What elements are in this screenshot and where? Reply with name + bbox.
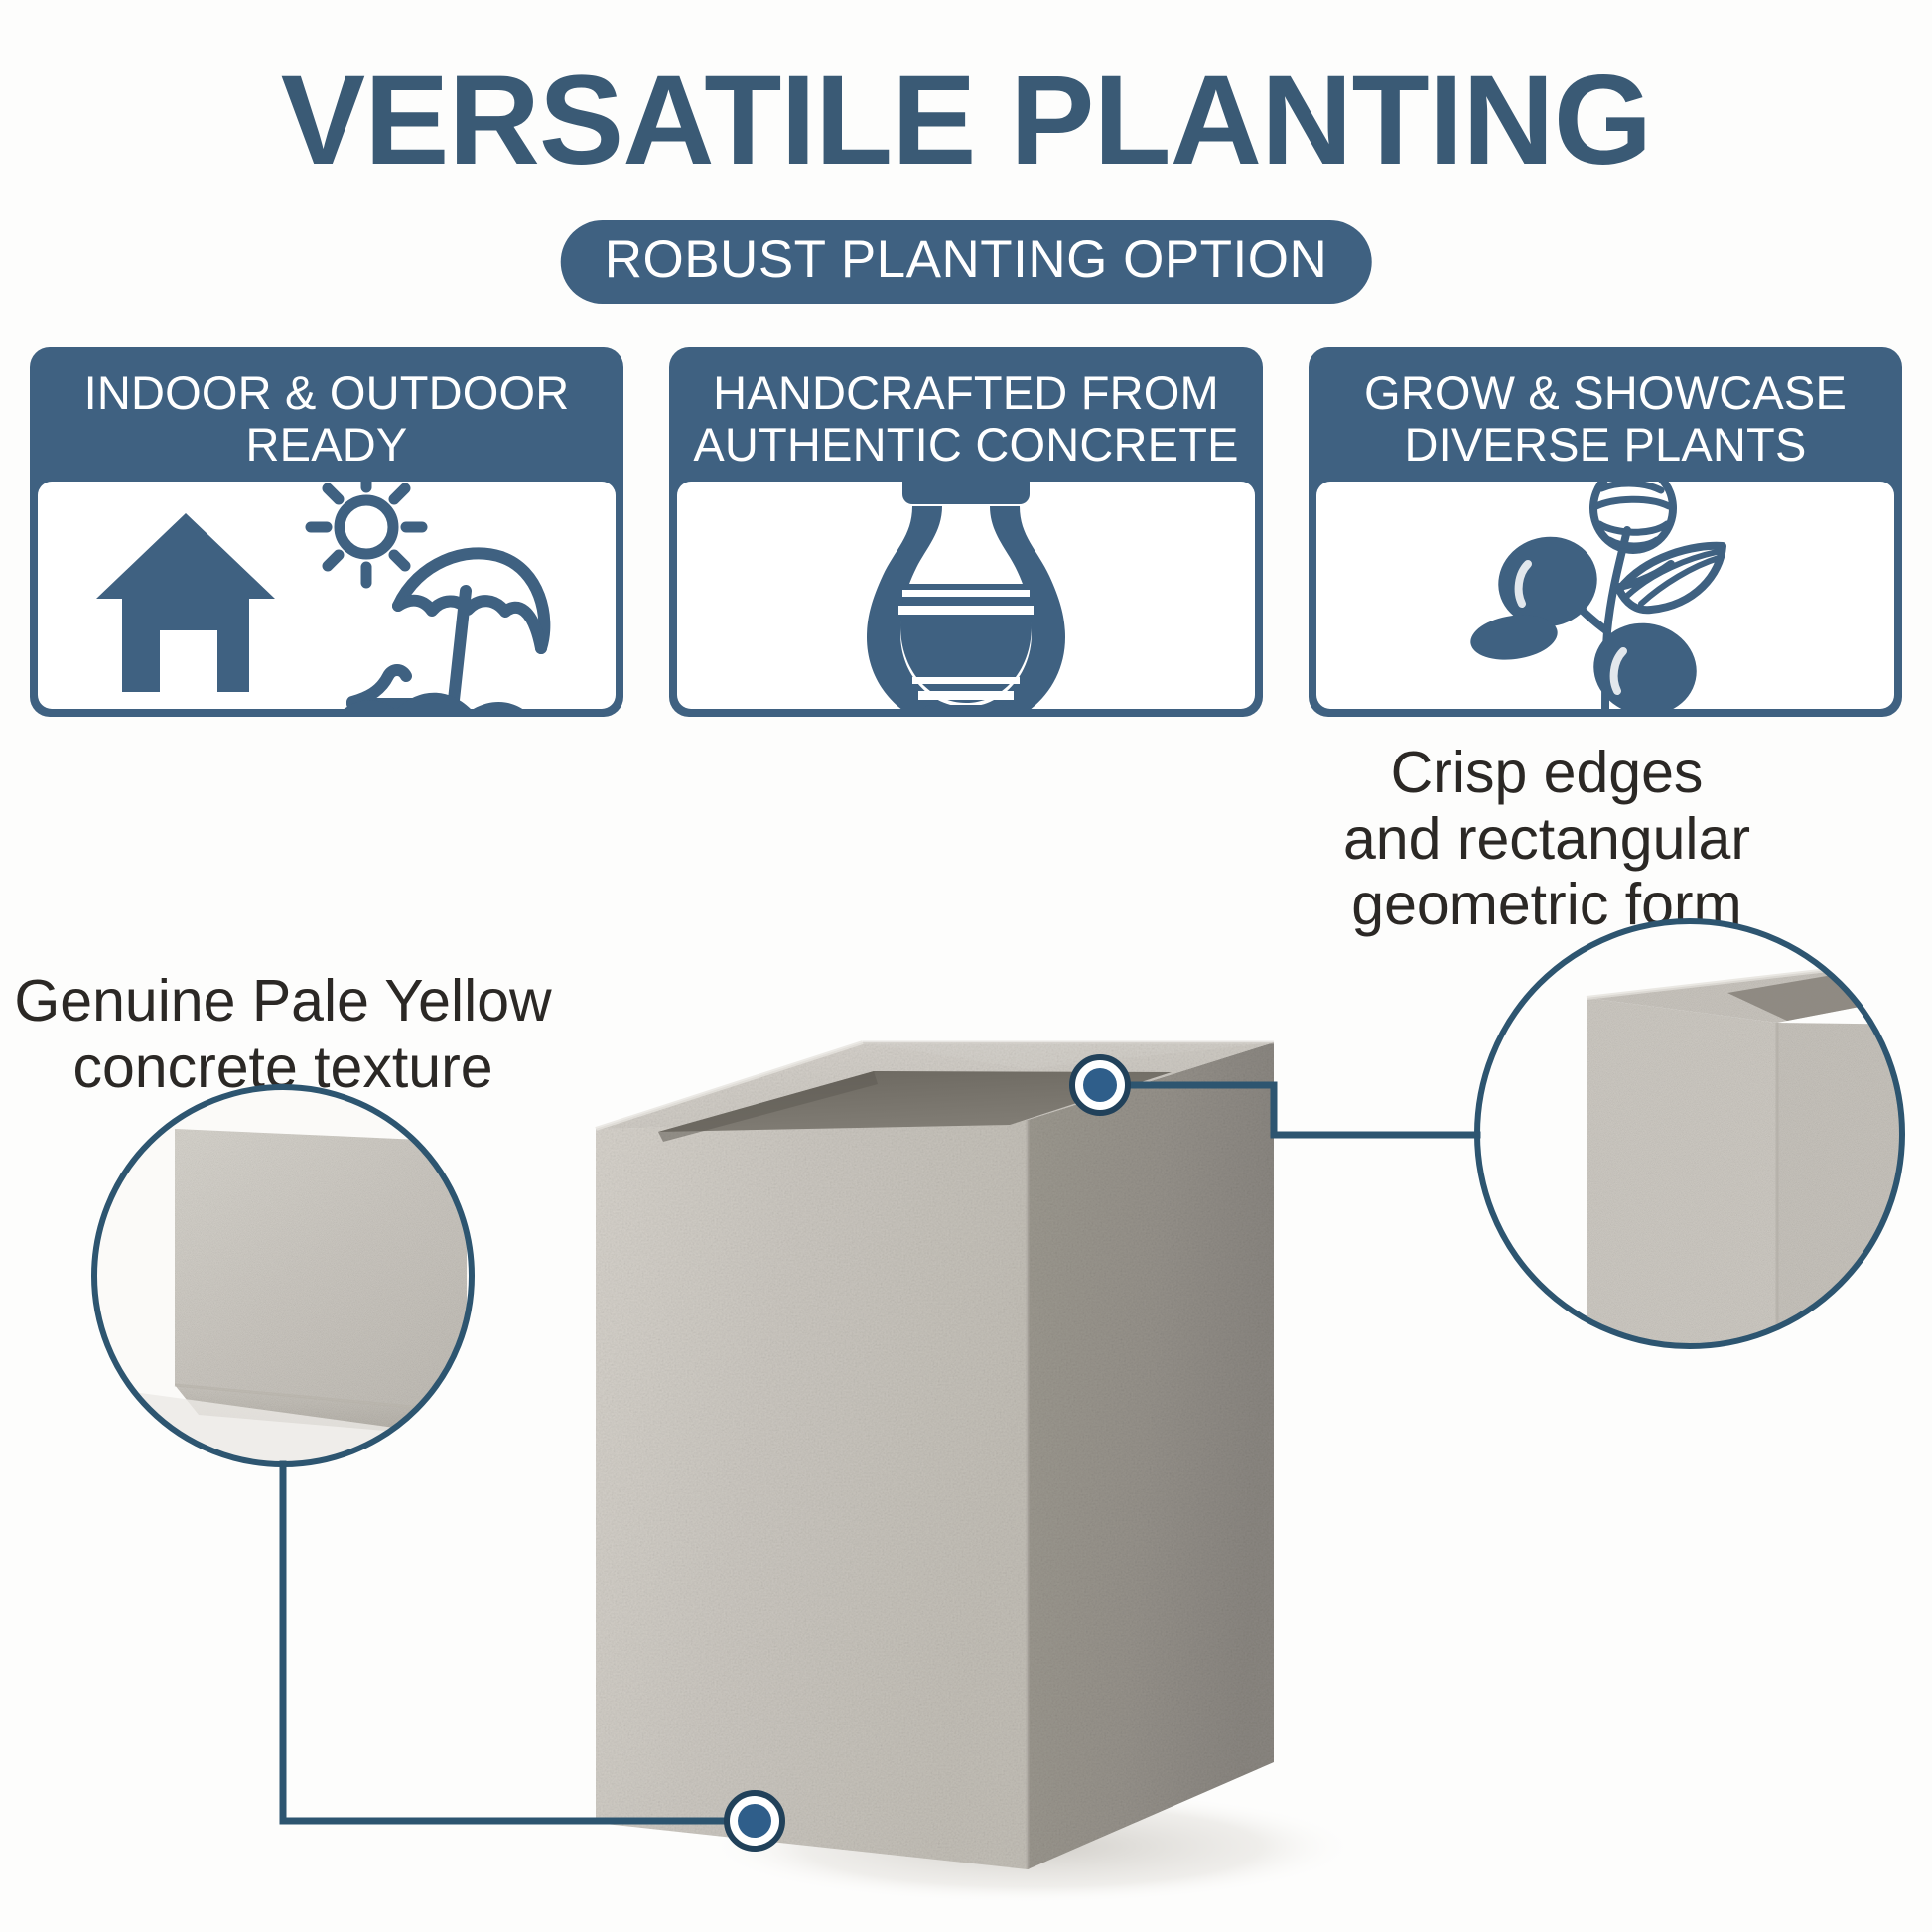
feature-card-icon-area	[1316, 482, 1894, 709]
planter-shadow	[705, 1789, 1360, 1904]
feature-card-icon-area	[677, 482, 1255, 709]
texture-slab-face	[175, 1129, 467, 1412]
corner-cavity	[1727, 958, 1932, 1021]
texture-detail-marker[interactable]	[727, 1793, 782, 1849]
sun-icon	[311, 482, 422, 582]
corner-right-face	[1777, 1023, 1932, 1350]
connector-line-crisp-edges	[1100, 1085, 1477, 1135]
house-icon	[96, 513, 275, 692]
page-title: VERSATILE PLANTING	[0, 58, 1932, 185]
planter-inner-wall	[658, 1071, 878, 1142]
planter-side-face	[1028, 1042, 1274, 1869]
corner-rim	[1587, 958, 1932, 1023]
corner-left-face	[1587, 998, 1777, 1350]
outline-leaf	[1619, 545, 1723, 609]
planter-rim-highlight	[596, 1042, 863, 1129]
feature-card-title: HANDCRAFTED FROM AUTHENTIC CONCRETE	[673, 351, 1259, 482]
square-concrete-planter	[596, 1042, 1360, 1904]
feature-card-icon-area	[38, 482, 616, 709]
planter-rim-right	[1028, 1042, 1274, 1120]
planter-front-face	[596, 1120, 1028, 1869]
callout-crisp-edges-label: Crisp edges and rectangular geometric fo…	[1181, 740, 1932, 938]
feature-card-indoor-outdoor[interactable]: INDOOR & OUTDOOR READY	[30, 347, 623, 717]
planter-cavity	[658, 1071, 1172, 1132]
zoom-circle-outline	[94, 1087, 472, 1464]
planter-top-outer	[596, 1042, 1274, 1129]
corner-detail-marker[interactable]	[1072, 1057, 1128, 1113]
feature-card-title: GROW & SHOWCASE DIVERSE PLANTS	[1312, 351, 1898, 482]
concrete-texture-zoom-circle	[94, 1087, 472, 1464]
feature-card-title: INDOOR & OUTDOOR READY	[34, 351, 620, 482]
berry-branch-icon	[1456, 482, 1754, 709]
beach-umbrella-icon	[352, 553, 544, 704]
callout-concrete-texture-label: Genuine Pale Yellow concrete texture	[0, 968, 566, 1100]
zoom-circle-outline	[1477, 921, 1902, 1346]
striped-berry	[1593, 482, 1673, 549]
texture-slab-edge	[175, 1385, 467, 1438]
subtitle-badge: ROBUST PLANTING OPTION	[561, 220, 1372, 304]
feature-card-handcrafted-concrete[interactable]: HANDCRAFTED FROM AUTHENTIC CONCRETE	[669, 347, 1263, 717]
corner-edge-zoom-circle	[1477, 921, 1932, 1350]
connector-line-concrete-texture	[283, 1464, 755, 1821]
feature-card-grow-showcase[interactable]: GROW & SHOWCASE DIVERSE PLANTS	[1309, 347, 1902, 717]
planter-rim-left	[596, 1042, 1028, 1129]
infographic-canvas: VERSATILE PLANTING ROBUST PLANTING OPTIO…	[0, 0, 1932, 1932]
vase-icon	[847, 482, 1085, 709]
